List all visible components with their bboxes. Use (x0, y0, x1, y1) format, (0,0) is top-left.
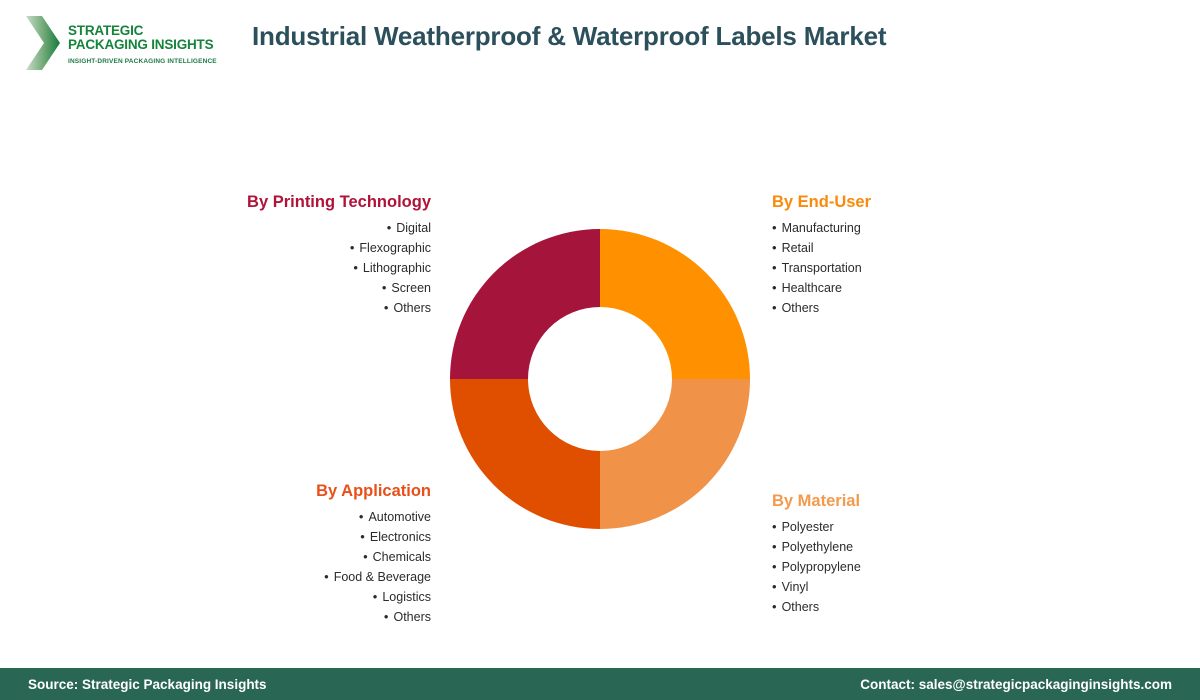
donut-segment-printing-technology[interactable] (450, 229, 600, 379)
list-item: Polypropylene (772, 557, 1072, 577)
chevron-right-icon (24, 14, 62, 72)
header: STRATEGIC PACKAGING INSIGHTS INSIGHT-DRI… (0, 0, 1200, 90)
list-item: Others (155, 298, 431, 318)
category-title-application: By Application (125, 482, 431, 501)
logo-line-2: PACKAGING INSIGHTS (68, 38, 217, 53)
category-block-end-user: By End-User Manufacturing Retail Transpo… (772, 193, 1072, 318)
logo-tagline: INSIGHT-DRIVEN PACKAGING INTELLIGENCE (68, 58, 217, 65)
brand-logo[interactable]: STRATEGIC PACKAGING INSIGHTS INSIGHT-DRI… (24, 10, 224, 76)
category-list-material: Polyester Polyethylene Polypropylene Vin… (772, 517, 1072, 617)
donut-segment-end-user[interactable] (600, 229, 750, 379)
list-item: Electronics (125, 527, 431, 547)
donut-chart (450, 229, 750, 529)
footer-source: Source: Strategic Packaging Insights (28, 677, 267, 692)
list-item: Polyethylene (772, 537, 1072, 557)
list-item: Screen (155, 278, 431, 298)
footer-contact[interactable]: Contact: sales@strategicpackaginginsight… (860, 677, 1172, 692)
list-item: Vinyl (772, 577, 1072, 597)
page-title: Industrial Weatherproof & Waterproof Lab… (252, 21, 886, 52)
category-title-printing-technology: By Printing Technology (155, 193, 431, 212)
list-item: Digital (155, 218, 431, 238)
donut-chart-svg (450, 229, 750, 529)
category-block-application: By Application Automotive Electronics Ch… (125, 482, 431, 627)
list-item: Food & Beverage (125, 567, 431, 587)
list-item: Manufacturing (772, 218, 1072, 238)
logo-wordmark: STRATEGIC PACKAGING INSIGHTS INSIGHT-DRI… (68, 22, 217, 65)
list-item: Others (772, 597, 1072, 617)
category-block-material: By Material Polyester Polyethylene Polyp… (772, 492, 1072, 617)
category-list-application: Automotive Electronics Chemicals Food & … (125, 507, 431, 627)
list-item: Healthcare (772, 278, 1072, 298)
list-item: Automotive (125, 507, 431, 527)
donut-segment-application[interactable] (450, 379, 600, 529)
list-item: Logistics (125, 587, 431, 607)
list-item: Polyester (772, 517, 1072, 537)
footer-bar: Source: Strategic Packaging Insights Con… (0, 668, 1200, 700)
list-item: Others (125, 607, 431, 627)
category-list-printing-technology: Digital Flexographic Lithographic Screen… (155, 218, 431, 318)
list-item: Chemicals (125, 547, 431, 567)
donut-segment-material[interactable] (600, 379, 750, 529)
list-item: Transportation (772, 258, 1072, 278)
category-title-material: By Material (772, 492, 1072, 511)
list-item: Others (772, 298, 1072, 318)
list-item: Flexographic (155, 238, 431, 258)
logo-line-1: STRATEGIC (68, 24, 217, 39)
list-item: Retail (772, 238, 1072, 258)
category-title-end-user: By End-User (772, 193, 1072, 212)
category-block-printing-technology: By Printing Technology Digital Flexograp… (155, 193, 431, 318)
category-list-end-user: Manufacturing Retail Transportation Heal… (772, 218, 1072, 318)
list-item: Lithographic (155, 258, 431, 278)
